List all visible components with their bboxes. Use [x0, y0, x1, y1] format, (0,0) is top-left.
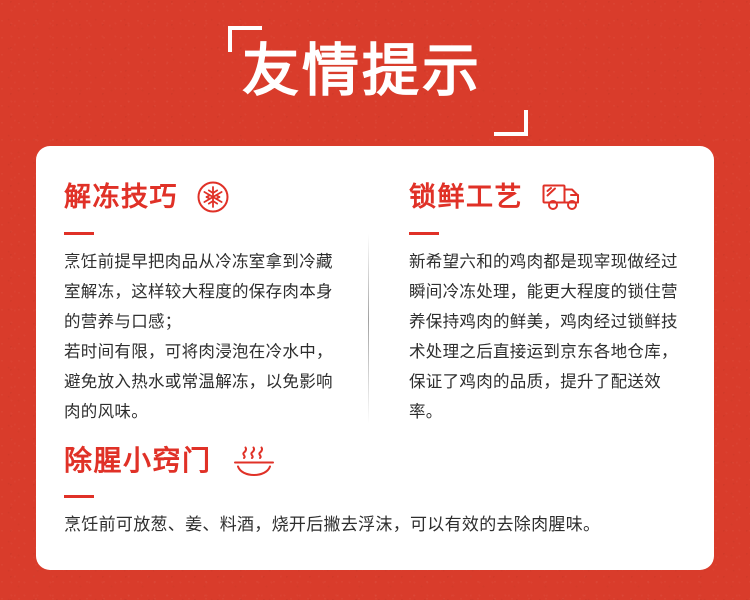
section-freshness-body: 新希望六和的鸡肉都是现宰现做经过瞬间冷冻处理，能更大程度的锁住营养保持鸡肉的鲜美… — [409, 247, 684, 427]
tips-columns: 解冻技巧 — [36, 146, 714, 427]
column-divider — [368, 234, 369, 424]
section-deodorize-body: 烹饪前可放葱、姜、料酒，烧开后撇去浮沫，可以有效的去除肉腥味。 — [64, 511, 686, 538]
section-deodorize-title: 除腥小窍门 — [64, 447, 212, 475]
section-thawing-body: 烹饪前提早把肉品从冷冻室拿到冷藏室解冻，这样较大程度的保存肉本身的营养与口感； … — [64, 247, 345, 427]
section-freshness-title: 锁鲜工艺 — [409, 184, 523, 211]
section-thawing: 解冻技巧 — [36, 146, 375, 427]
section-freshness-header: 锁鲜工艺 — [409, 178, 684, 216]
section-deodorize-header: 除腥小窍门 — [64, 442, 686, 480]
page-title-block: 友情提示 — [228, 26, 528, 136]
delivery-truck-icon — [541, 180, 585, 214]
section-thawing-title: 解冻技巧 — [64, 184, 178, 211]
page-title: 友情提示 — [242, 36, 482, 107]
section-thawing-header: 解冻技巧 — [64, 178, 345, 216]
section-deodorize: 除腥小窍门 烹饪前可放葱、姜、料酒，烧开后撇去浮沫，可以有效的去除肉腥味。 — [64, 442, 686, 538]
section-thawing-rule — [64, 232, 94, 235]
steaming-bowl-icon — [230, 443, 278, 479]
tips-card: 解冻技巧 — [36, 146, 714, 570]
corner-bracket-bottom-right-icon — [494, 110, 528, 136]
snowflake-icon — [196, 180, 230, 214]
section-deodorize-rule — [64, 495, 94, 498]
section-freshness: 锁鲜工艺 新希望六和的鸡肉都是现宰现做经过瞬间冷冻处理，能更大程度的锁住营养保持… — [375, 146, 714, 427]
section-freshness-rule — [409, 232, 439, 235]
